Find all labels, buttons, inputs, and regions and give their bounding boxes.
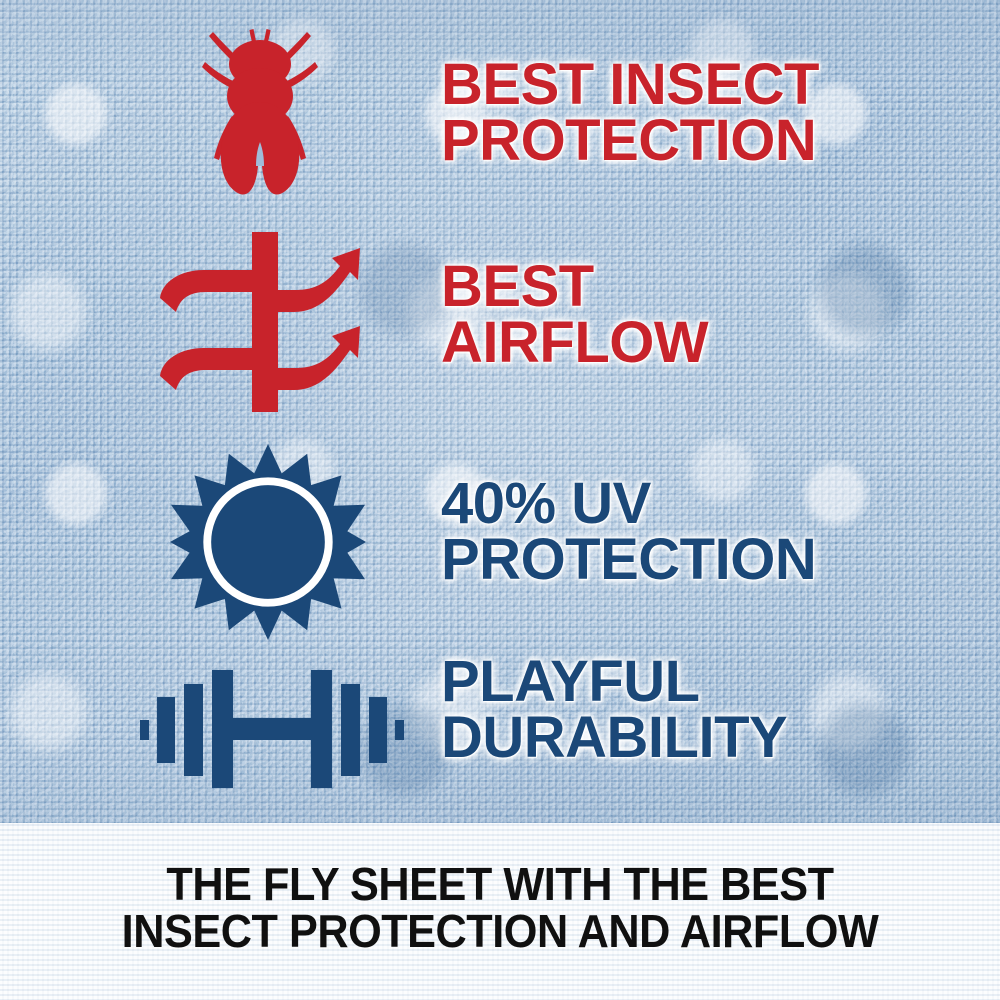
feature-label-durability: PLAYFUL DURABILITY bbox=[441, 654, 787, 767]
product-feature-graphic: BEST INSECT PROTECTION BEST AIRFLOW 40% … bbox=[0, 0, 1000, 1000]
dumbbell-icon bbox=[140, 664, 404, 794]
feature-label-insect-protection: BEST INSECT PROTECTION bbox=[441, 57, 819, 170]
feature-label-uv-protection: 40% UV PROTECTION bbox=[441, 476, 816, 589]
sun-uv-icon bbox=[168, 444, 368, 640]
feature-label-airflow: BEST AIRFLOW bbox=[441, 259, 708, 372]
caption-headline: THE FLY SHEET WITH THE BEST INSECT PROTE… bbox=[30, 861, 970, 955]
airflow-arrows-icon bbox=[160, 226, 372, 416]
fly-icon bbox=[196, 24, 324, 200]
caption-band: THE FLY SHEET WITH THE BEST INSECT PROTE… bbox=[0, 823, 1000, 1000]
